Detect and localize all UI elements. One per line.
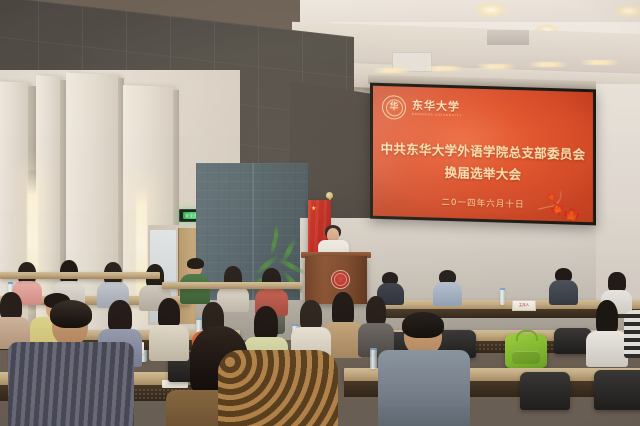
soffit-light-strip xyxy=(424,66,464,71)
water-bottle xyxy=(370,348,377,369)
desk-row xyxy=(0,272,160,279)
flag-pole-finial xyxy=(326,192,333,199)
ceiling-downlight xyxy=(474,2,508,18)
soffit-light-strip xyxy=(528,62,568,67)
university-wordmark: 东华大学 DONGHUA UNIVERSITY xyxy=(412,100,462,117)
backpack-pocket xyxy=(512,351,540,364)
slide-branding: 华 东华大学 DONGHUA UNIVERSITY xyxy=(382,95,462,121)
photo-scene: 安全出口 华 东华大学 DONGHUA UNIVERSITY 中共东华大学外语学… xyxy=(0,0,640,426)
slide-title-line1: 中共东华大学外语学院总支部委员会 xyxy=(373,142,593,163)
soffit-light-strip xyxy=(372,68,412,73)
soffit-light-strip xyxy=(580,60,620,65)
name-card: 主持人 xyxy=(512,300,536,311)
wordmark-chinese: 东华大学 xyxy=(412,100,462,112)
soffit-light-strip xyxy=(476,64,516,69)
desk-row xyxy=(162,282,302,289)
flag-star-icon: ★ xyxy=(311,206,316,212)
emblem-glyph: 华 xyxy=(389,103,398,112)
backpack xyxy=(505,334,547,368)
podium-emblem-icon xyxy=(331,270,350,289)
water-bottle xyxy=(500,288,505,305)
backpack-strap xyxy=(516,330,538,341)
chair[interactable] xyxy=(520,372,570,410)
chair[interactable] xyxy=(594,370,640,410)
slide-title-line2: 换届选举大会 xyxy=(373,164,593,185)
projection-screen[interactable]: 华 东华大学 DONGHUA UNIVERSITY 中共东华大学外语学院总支部委… xyxy=(370,83,596,226)
wall-vent xyxy=(487,30,529,45)
university-emblem-icon: 华 xyxy=(382,95,406,120)
slide-canvas: 华 东华大学 DONGHUA UNIVERSITY 中共东华大学外语学院总支部委… xyxy=(373,86,593,223)
ceiling-downlight xyxy=(614,4,640,18)
wordmark-english: DONGHUA UNIVERSITY xyxy=(412,112,462,117)
